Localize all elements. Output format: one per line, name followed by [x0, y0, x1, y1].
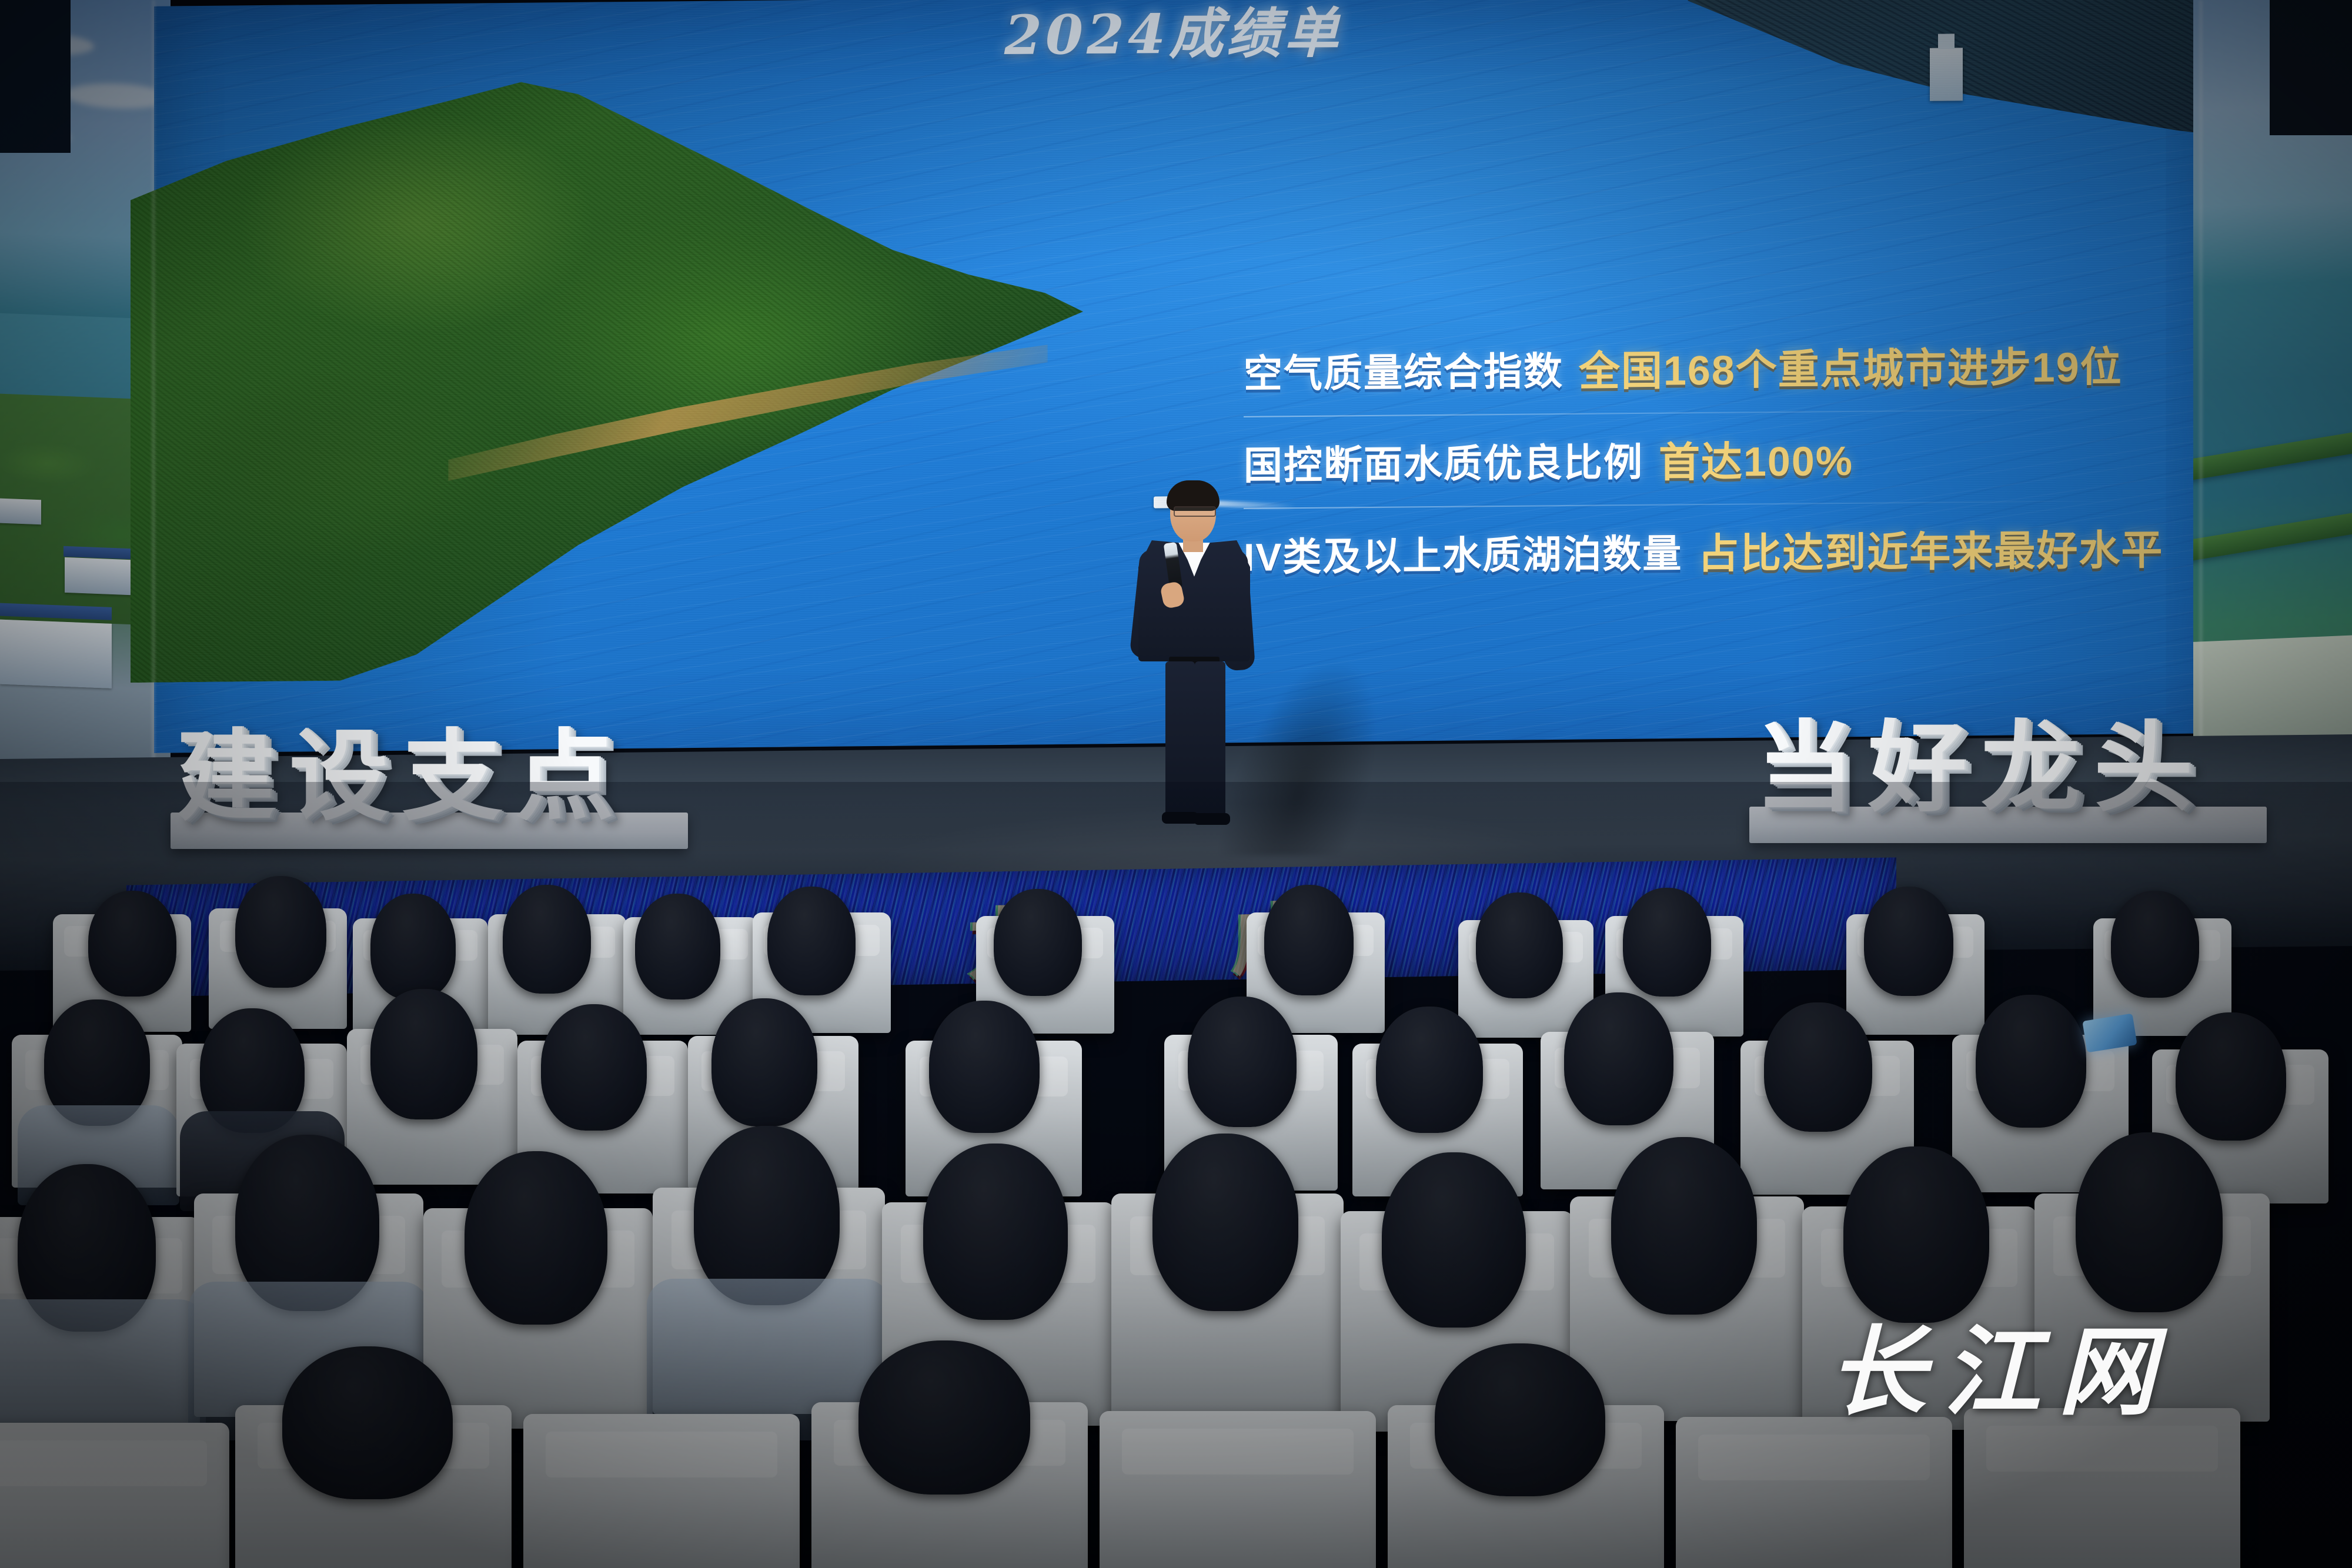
audience-head: [503, 885, 591, 994]
seat: [1676, 1417, 1952, 1568]
stat-divider: [1244, 409, 2126, 417]
audience-head: [1264, 885, 1354, 995]
audience-head: [711, 998, 817, 1126]
audience-head: [1476, 892, 1563, 998]
audience-head: [235, 876, 326, 988]
audience-head: [929, 1001, 1040, 1133]
stat-label: 国控断面水质优良比例: [1244, 431, 1643, 491]
audience-head: [1623, 888, 1711, 997]
stat-value: 占比达到近年来最好水平: [1698, 517, 2163, 580]
audience-head: [2176, 1012, 2286, 1141]
audience-head: [1976, 995, 2086, 1128]
audience-head: [370, 989, 477, 1119]
screen-title: 2024成绩单: [950, 5, 1396, 62]
audience-head: [1382, 1152, 1526, 1328]
stat-row: IV类及以上水质湖泊数量 占比达到近年来最好水平: [1244, 508, 2302, 591]
stat-value: 全国168个重点城市进步19位: [1579, 333, 2123, 397]
audience-head: [282, 1346, 453, 1499]
audience-head: [88, 891, 176, 997]
audience-head: [2076, 1132, 2223, 1312]
audience-head: [370, 894, 456, 999]
seat: [0, 1423, 229, 1568]
audience-head: [465, 1151, 607, 1325]
audience-head: [1376, 1007, 1483, 1133]
audience-area: [0, 782, 2352, 1568]
screenshot-root: 2024成绩单 空气质量综合指数 全国168个重点城市进步19位 国控断面水质优…: [0, 0, 2352, 1568]
audience-head: [2111, 891, 2199, 998]
audience-head: [1611, 1137, 1757, 1315]
stat-row: 国控断面水质优良比例 首达100%: [1244, 416, 2302, 500]
speaker-figure: [1105, 467, 1282, 820]
audience-head: [1764, 1002, 1872, 1132]
stat-label: 空气质量综合指数: [1244, 340, 1563, 399]
audience-head: [923, 1144, 1068, 1320]
audience-head: [858, 1340, 1030, 1495]
stat-row: 空气质量综合指数 全国168个重点城市进步19位: [1244, 325, 2302, 408]
glasses-icon: [1174, 506, 1216, 517]
seat: [1100, 1411, 1376, 1568]
room-wall-right: [2270, 0, 2352, 135]
audience-head: [1864, 887, 1953, 996]
watermark-logo: 长江网: [1829, 1293, 2173, 1434]
audience-head: [1564, 992, 1673, 1125]
audience-head: [1152, 1134, 1298, 1311]
room-wall-left: [0, 0, 71, 153]
audience-head: [541, 1004, 647, 1131]
lakeside-building: [1930, 48, 1963, 101]
stat-label: IV类及以上水质湖泊数量: [1244, 522, 1682, 583]
audience-head: [1435, 1343, 1605, 1496]
stat-divider: [1244, 500, 2126, 509]
stat-value: 首达100%: [1659, 427, 1853, 489]
seat: [523, 1414, 800, 1568]
audience-head: [1188, 997, 1297, 1127]
statistics-list: 空气质量综合指数 全国168个重点城市进步19位 国控断面水质优良比例 首达10…: [1244, 325, 2302, 591]
audience-head: [635, 894, 720, 999]
smartphone-screen: [2082, 1014, 2137, 1053]
audience-head: [767, 887, 856, 995]
audience-head: [994, 889, 1082, 996]
